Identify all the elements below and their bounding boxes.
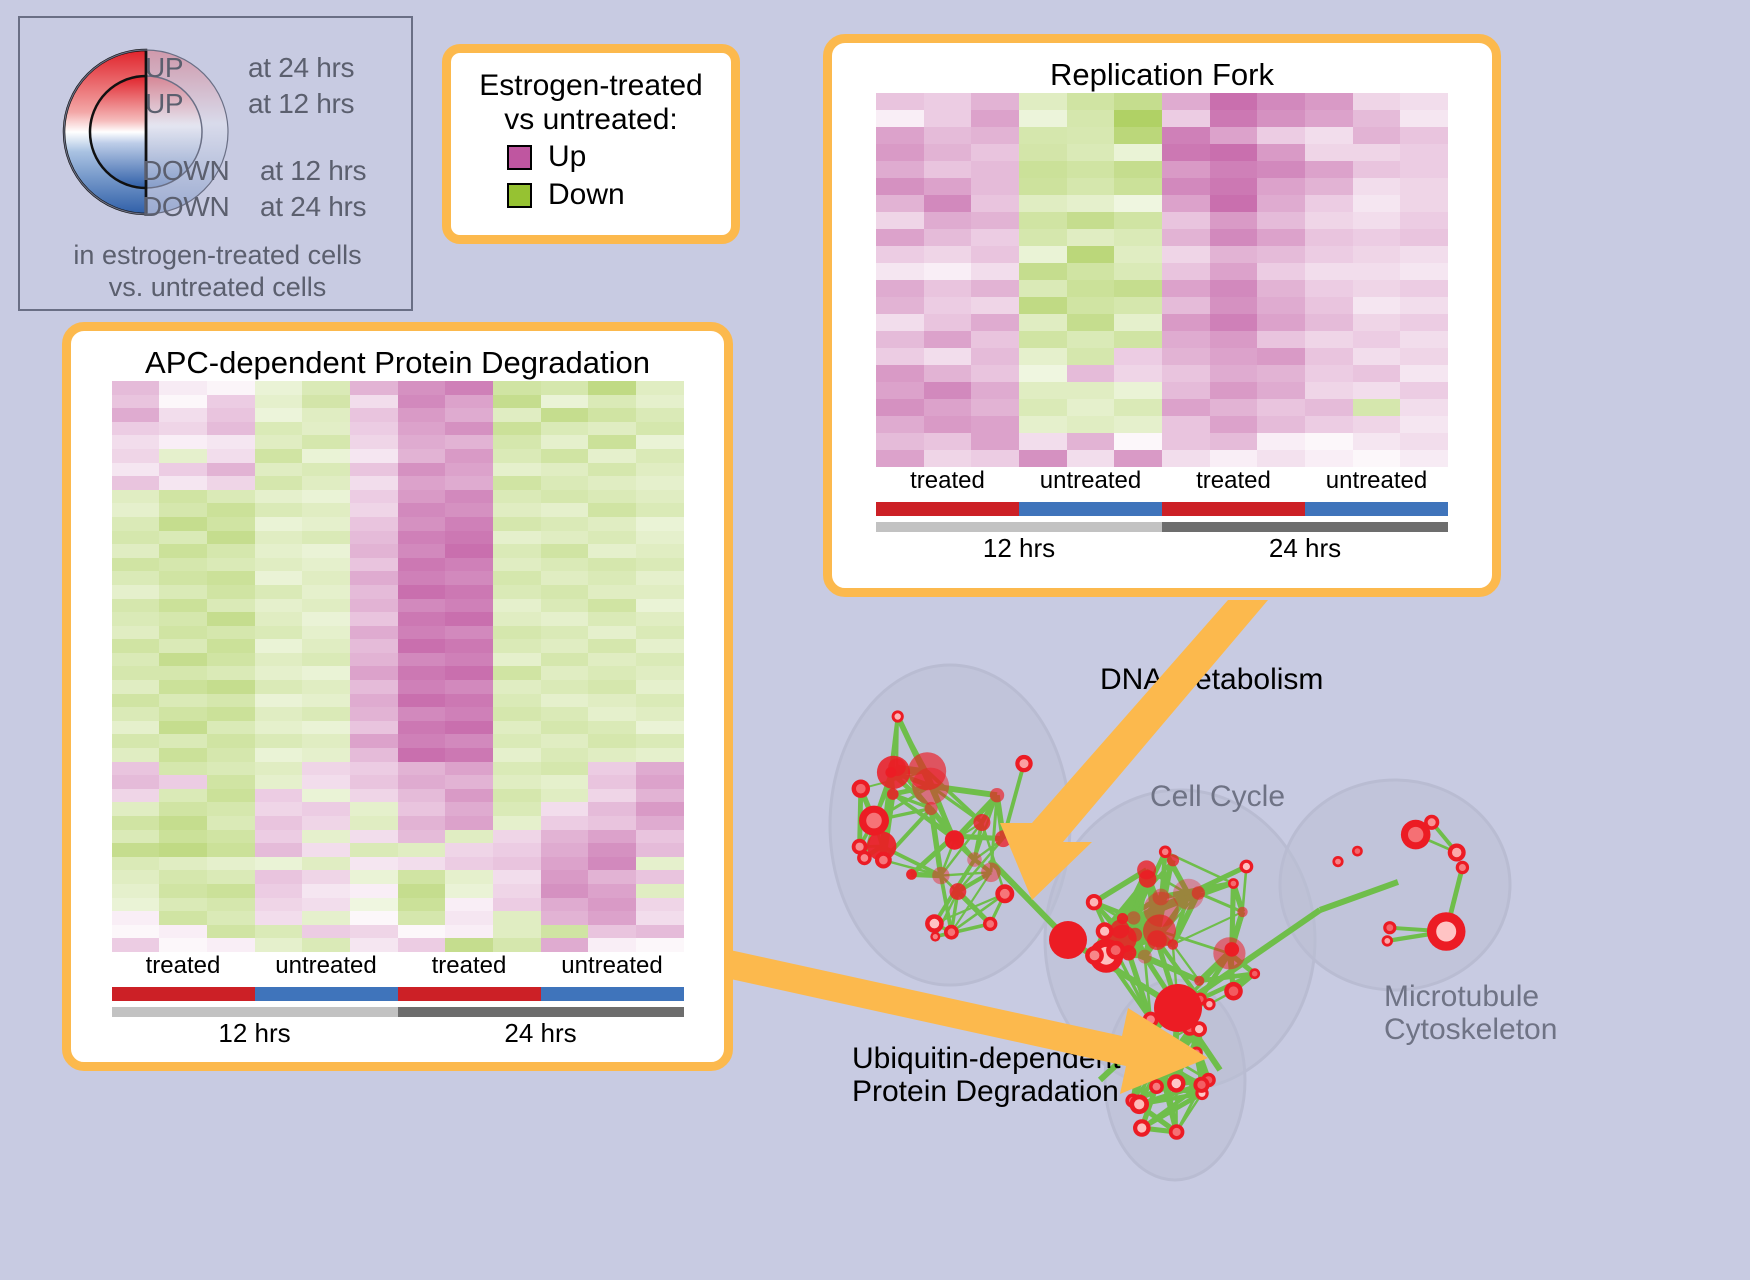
wheel-caption: in estrogen-treated cells vs. untreated … [20, 240, 415, 304]
heatmap-cell [971, 382, 1019, 399]
column-label-0: treated [876, 467, 1019, 495]
heatmap-cell [1353, 93, 1401, 110]
heatmap-cell [1400, 161, 1448, 178]
heatmap-cell [1114, 297, 1162, 314]
heatmap-cell [924, 382, 972, 399]
heatmap-cell [588, 558, 636, 572]
heatmap-cell [1114, 433, 1162, 450]
heatmap-cell [541, 911, 589, 925]
heatmap-cell [1019, 144, 1067, 161]
heatmap-cell [636, 748, 684, 762]
heatmap-cell [588, 884, 636, 898]
heatmap-cell [1353, 314, 1401, 331]
panel-title-replication-fork: Replication Fork [832, 57, 1492, 93]
heatmap-cell [159, 422, 207, 436]
heatmap-cell [255, 830, 303, 844]
heatmap-cell [350, 381, 398, 395]
heatmap-cell [493, 463, 541, 477]
legend-item-down: Down [507, 178, 731, 212]
heatmap-cell [493, 422, 541, 436]
heatmap-cell [398, 775, 446, 789]
heatmap-cell [1162, 229, 1210, 246]
heatmap-cell [112, 843, 160, 857]
wheel-time-up-12: at 12 hrs [248, 88, 354, 120]
heatmap-cell [1353, 297, 1401, 314]
heatmap-cell [112, 503, 160, 517]
heatmap-cell [159, 802, 207, 816]
network-node-core [1156, 1060, 1165, 1069]
heatmap-cell [636, 870, 684, 884]
heatmap-cell [1305, 195, 1353, 212]
heatmap-cell [636, 721, 684, 735]
heatmap-cell [1257, 450, 1305, 467]
heatmap-cell [588, 435, 636, 449]
heatmap-cell [1353, 229, 1401, 246]
heatmap-cell [493, 490, 541, 504]
heatmap-cell [302, 884, 350, 898]
heatmap-cell [924, 348, 972, 365]
heatmap-cell [588, 707, 636, 721]
heatmap-cell [1114, 161, 1162, 178]
heatmap-cell [1305, 229, 1353, 246]
heatmap-cell [1353, 212, 1401, 229]
heatmap-cell [207, 544, 255, 558]
heatmap-cell [159, 748, 207, 762]
heatmap-cell [541, 707, 589, 721]
heatmap-cell [971, 297, 1019, 314]
heatmap-cell [112, 544, 160, 558]
heatmap-cell [924, 212, 972, 229]
heatmap-cell [1400, 229, 1448, 246]
heatmap-cell [398, 408, 446, 422]
heatmap-cell [1067, 161, 1115, 178]
heatmap-cell [350, 476, 398, 490]
heatmap-cell [493, 911, 541, 925]
heatmap-cell [445, 734, 493, 748]
heatmap-cell [1353, 280, 1401, 297]
heatmap-cell [1210, 433, 1258, 450]
heatmap-cell [159, 585, 207, 599]
heatmap-cell [636, 789, 684, 803]
heatmap-cell [445, 721, 493, 735]
network-node [1139, 870, 1157, 888]
heatmap-cell [445, 395, 493, 409]
heatmap-cell [1305, 246, 1353, 263]
heatmap-cell [159, 503, 207, 517]
heatmap-cell [350, 653, 398, 667]
heatmap-cell [445, 694, 493, 708]
heatmap-cell [398, 802, 446, 816]
heatmap-cell [159, 449, 207, 463]
heatmap-cell [255, 558, 303, 572]
heatmap-cell [541, 408, 589, 422]
heatmap-cell [445, 435, 493, 449]
heatmap-cell [302, 925, 350, 939]
heatmap-cell [1162, 450, 1210, 467]
heatmap-cell [445, 762, 493, 776]
heatmap-cell [541, 558, 589, 572]
heatmap-cell [493, 381, 541, 395]
network-node [885, 767, 896, 778]
heatmap-cell [1353, 161, 1401, 178]
cluster-label-ubiquitin-line1: Ubiquitin-dependent [852, 1042, 1121, 1075]
heatmap-cell [924, 93, 972, 110]
heatmap-cell [445, 884, 493, 898]
treatment-segment-2 [1162, 502, 1305, 516]
heatmap-cell [207, 612, 255, 626]
heatmap-cell [1067, 348, 1115, 365]
heatmap-cell [302, 843, 350, 857]
heatmap-cell [445, 843, 493, 857]
heatmap-cell [302, 911, 350, 925]
heatmap-cell [636, 911, 684, 925]
heatmap-cell [541, 789, 589, 803]
heatmap-cell [302, 830, 350, 844]
heatmap-cell [588, 694, 636, 708]
heatmap-cell [255, 707, 303, 721]
treatment-segment-1 [1019, 502, 1162, 516]
heatmap-cell [350, 816, 398, 830]
heatmap-cell [1353, 348, 1401, 365]
treatment-segment-2 [398, 987, 541, 1001]
heatmap-cell [924, 433, 972, 450]
heatmap-cell [1067, 93, 1115, 110]
treatment-bar-replication-fork [876, 502, 1448, 516]
heatmap-cell [112, 925, 160, 939]
heatmap-cell [159, 544, 207, 558]
heatmap-cell [302, 408, 350, 422]
heatmap-cell [398, 925, 446, 939]
heatmap-cell [1019, 399, 1067, 416]
heatmap-cell [445, 938, 493, 952]
heatmap-cell [398, 531, 446, 545]
network-node-core [861, 854, 869, 862]
heatmap-cell [207, 435, 255, 449]
heatmap-cell [588, 830, 636, 844]
heatmap-cell [1210, 416, 1258, 433]
network-node-core [1020, 759, 1029, 768]
heatmap-cell [350, 680, 398, 694]
heatmap-cell [541, 490, 589, 504]
heatmap-cell [1353, 178, 1401, 195]
heatmap-cell [541, 843, 589, 857]
heatmap-cell [159, 857, 207, 871]
treatment-bar-apc [112, 987, 684, 1001]
heatmap-cell [112, 680, 160, 694]
heatmap-cell [302, 463, 350, 477]
heatmap-cell [207, 884, 255, 898]
heatmap-cell [541, 816, 589, 830]
network-node [1237, 907, 1247, 917]
heatmap-cell [876, 212, 924, 229]
heatmap-cell [207, 476, 255, 490]
heatmap-cell [1210, 297, 1258, 314]
heatmap-cell [636, 558, 684, 572]
heatmap-cell [445, 816, 493, 830]
heatmap-cell [1162, 348, 1210, 365]
heatmap-cell [302, 571, 350, 585]
heatmap-cell [1067, 433, 1115, 450]
network-node [1225, 942, 1240, 957]
heatmap-cell [1353, 246, 1401, 263]
heatmap-cell [876, 144, 924, 161]
heatmap-cell [1210, 144, 1258, 161]
heatmap-cell [1400, 365, 1448, 382]
heatmap-cell [493, 870, 541, 884]
wheel-caption-line2: vs. untreated cells [20, 272, 415, 304]
down-color-swatch [507, 183, 532, 208]
heatmap-cell [971, 93, 1019, 110]
heatmap-cell [445, 381, 493, 395]
heatmap-cell [588, 802, 636, 816]
heatmap-cell [255, 762, 303, 776]
heatmap-cell [207, 558, 255, 572]
heatmap-cell [112, 490, 160, 504]
heatmap-cell [1114, 246, 1162, 263]
heatmap-cell [493, 748, 541, 762]
heatmap-cell [1400, 331, 1448, 348]
heatmap-cell [636, 585, 684, 599]
heatmap-cell [924, 144, 972, 161]
heatmap-cell [924, 365, 972, 382]
heatmap-cell [398, 490, 446, 504]
heatmap-cell [971, 399, 1019, 416]
heatmap-cell [971, 280, 1019, 297]
network-node-core [1243, 863, 1250, 870]
heatmap-cell [588, 775, 636, 789]
heatmap-cell [1114, 348, 1162, 365]
heatmap-cell [1353, 399, 1401, 416]
heatmap-cell [207, 653, 255, 667]
heatmap-cell [350, 517, 398, 531]
network-node-core [1335, 859, 1341, 865]
heatmap-cell [350, 734, 398, 748]
up-down-legend-card: Estrogen-treated vs untreated: Up Down [442, 44, 740, 244]
heatmap-cell [350, 612, 398, 626]
heatmap-cell [1257, 110, 1305, 127]
heatmap-cell [493, 449, 541, 463]
heatmap-cell [207, 503, 255, 517]
network-node-core [1173, 1128, 1181, 1136]
column-label-3: untreated [541, 952, 684, 980]
heatmap-cell [924, 110, 972, 127]
time-label-1: 24 hrs [1162, 533, 1448, 564]
heatmap-cell [1257, 263, 1305, 280]
heatmap-cell [493, 843, 541, 857]
heatmap-cell [924, 229, 972, 246]
network-node-core [1408, 827, 1423, 842]
heatmap-cell [398, 612, 446, 626]
heatmap-cell [1019, 127, 1067, 144]
heatmap-cell [112, 775, 160, 789]
network-node-core [1090, 951, 1100, 961]
heatmap-cell [255, 544, 303, 558]
heatmap-cell [159, 381, 207, 395]
heatmap-cell [302, 707, 350, 721]
heatmap-cell [159, 395, 207, 409]
heatmap-cell [112, 422, 160, 436]
heatmap-cell [636, 544, 684, 558]
heatmap-cell [255, 802, 303, 816]
time-segment-1 [398, 1007, 684, 1017]
heatmap-cell [876, 399, 924, 416]
heatmap-cell [876, 297, 924, 314]
heatmap-cell [1305, 399, 1353, 416]
heatmap-cell [159, 938, 207, 952]
wheel-label-up-24: UP [145, 52, 183, 84]
heatmap-cell [159, 925, 207, 939]
network-node [949, 831, 960, 842]
heatmap-cell [541, 435, 589, 449]
heatmap-cell [971, 161, 1019, 178]
heatmap-cell [350, 585, 398, 599]
heatmap-cell [1353, 382, 1401, 399]
heatmap-cell [493, 408, 541, 422]
heatmap-cell [398, 558, 446, 572]
heatmap-cell [255, 938, 303, 952]
heatmap-cell [445, 680, 493, 694]
heatmap-cell [159, 666, 207, 680]
heatmap-cell [1400, 314, 1448, 331]
treatment-segment-0 [876, 502, 1019, 516]
heatmap-cell [207, 381, 255, 395]
heatmap-cell [1257, 416, 1305, 433]
heatmap-cell [302, 612, 350, 626]
heatmap-cell [1162, 212, 1210, 229]
heatmap-cell [445, 517, 493, 531]
heatmap-cell [255, 653, 303, 667]
heatmap-cell [112, 639, 160, 653]
heatmap-cell [1353, 127, 1401, 144]
time-label-1: 24 hrs [398, 1018, 684, 1049]
heatmap-cell [398, 503, 446, 517]
heatmap-cell [255, 381, 303, 395]
heatmap-cell [1305, 127, 1353, 144]
cluster-label-microtubule-line1: Microtubule [1384, 980, 1557, 1013]
heatmap-cell [588, 585, 636, 599]
heatmap-cell [207, 911, 255, 925]
heatmap-cell [588, 422, 636, 436]
heatmap-cell [1353, 450, 1401, 467]
heatmap-cell [398, 639, 446, 653]
heatmap-cell [1210, 331, 1258, 348]
heatmap-cell [493, 476, 541, 490]
heatmap-cell [255, 449, 303, 463]
heatmap-cell [207, 938, 255, 952]
heatmap-cell [1210, 399, 1258, 416]
heatmap-cell [588, 639, 636, 653]
heatmap-cell [924, 297, 972, 314]
heatmap-cell [1257, 331, 1305, 348]
heatmap-cell [255, 748, 303, 762]
heatmap-cell [493, 734, 541, 748]
heatmap-cell [636, 517, 684, 531]
heatmap-cell [1019, 365, 1067, 382]
wheel-time-up-24: at 24 hrs [248, 52, 354, 84]
heatmap-cell [493, 816, 541, 830]
heatmap-cell [255, 585, 303, 599]
heatmap-cell [1019, 178, 1067, 195]
heatmap-cell [636, 707, 684, 721]
column-labels-apc: treateduntreatedtreateduntreated [112, 952, 684, 980]
heatmap-cell [207, 449, 255, 463]
heatmap-cell [636, 408, 684, 422]
heatmap-cell [112, 707, 160, 721]
heatmap-cell [1114, 314, 1162, 331]
heatmap-cell [350, 870, 398, 884]
time-labels-apc: 12 hrs24 hrs [112, 1018, 684, 1049]
network-node [990, 788, 1004, 802]
cluster-label-ubiquitin-line2: Protein Degradation [852, 1075, 1121, 1108]
heatmap-cell [1162, 297, 1210, 314]
heatmap-cell [876, 229, 924, 246]
heatmap-cell [350, 422, 398, 436]
heatmap-cell [302, 721, 350, 735]
heatmap-cell [588, 653, 636, 667]
heatmap-cell [350, 571, 398, 585]
network-node-core [1137, 1123, 1146, 1132]
network-node-core [1162, 849, 1169, 856]
heatmap-cell [588, 680, 636, 694]
heatmap-cell [302, 558, 350, 572]
heatmap-cell [255, 816, 303, 830]
heatmap-cell [207, 707, 255, 721]
heatmap-cell [1019, 161, 1067, 178]
heatmap-cell [1114, 416, 1162, 433]
heatmap-cell [302, 775, 350, 789]
heatmap-cell [876, 246, 924, 263]
heatmap-cell [207, 639, 255, 653]
heatmap-cell [971, 212, 1019, 229]
heatmap-cell [255, 517, 303, 531]
heatmap-cell [876, 348, 924, 365]
heatmap-cell [159, 734, 207, 748]
heatmap-cell [302, 870, 350, 884]
heatmap-cell [1019, 110, 1067, 127]
heatmap-cell [302, 748, 350, 762]
heatmap-cell [159, 911, 207, 925]
heatmap-cell [541, 884, 589, 898]
heatmap-cell [350, 843, 398, 857]
heatmap-cell [207, 517, 255, 531]
heatmap-cell [1162, 178, 1210, 195]
heatmap-cell [398, 694, 446, 708]
time-label-0: 12 hrs [876, 533, 1162, 564]
heatmap-cell [112, 626, 160, 640]
heatmap-cell [588, 870, 636, 884]
network-node-core [933, 934, 938, 939]
heatmap-cell [159, 517, 207, 531]
column-label-2: treated [398, 952, 541, 980]
heatmap-cell [445, 789, 493, 803]
heatmap-cell [541, 626, 589, 640]
heatmap-cell [1257, 229, 1305, 246]
heatmap-cell [1353, 263, 1401, 280]
time-bar-replication-fork [876, 522, 1448, 532]
heatmap-cell [350, 694, 398, 708]
heatmap-cell [971, 178, 1019, 195]
heatmap-cell [112, 857, 160, 871]
heatmap-cell [1305, 331, 1353, 348]
heatmap-cell [159, 680, 207, 694]
heatmap-cell [1162, 161, 1210, 178]
legend-title-line1: Estrogen-treated [451, 69, 731, 103]
heatmap-cell [112, 830, 160, 844]
heatmap-cell [588, 503, 636, 517]
network-node [887, 788, 899, 800]
heatmap-cell [1305, 297, 1353, 314]
heatmap-cell [1019, 314, 1067, 331]
